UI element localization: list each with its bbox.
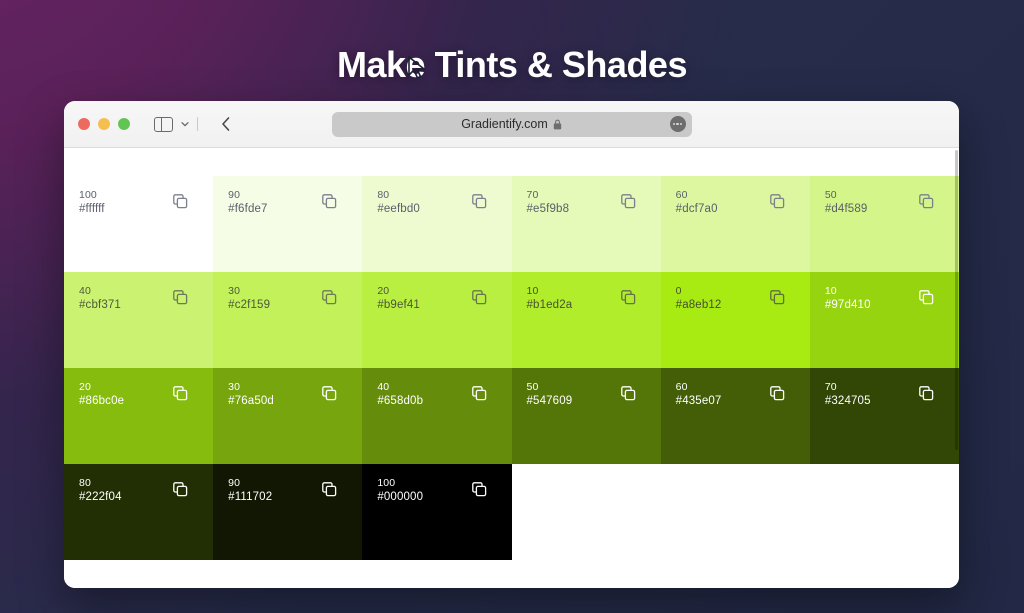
- copy-icon[interactable]: [472, 482, 487, 497]
- lock-icon: [553, 119, 562, 130]
- color-swatch[interactable]: 70#324705: [810, 368, 959, 464]
- copy-icon[interactable]: [173, 194, 188, 209]
- color-swatch[interactable]: 20#b9ef41: [362, 272, 511, 368]
- color-swatch[interactable]: 50#547609: [512, 368, 661, 464]
- color-swatch[interactable]: 70#e5f9b8: [512, 176, 661, 272]
- color-swatch[interactable]: 80#eefbd0: [362, 176, 511, 272]
- color-swatch[interactable]: 30#c2f159: [213, 272, 362, 368]
- color-swatch[interactable]: 60#dcf7a0: [661, 176, 810, 272]
- copy-icon[interactable]: [472, 290, 487, 305]
- copy-icon[interactable]: [173, 482, 188, 497]
- copy-icon[interactable]: [770, 290, 785, 305]
- page-scrollbar[interactable]: [954, 148, 959, 588]
- copy-icon[interactable]: [472, 194, 487, 209]
- color-swatch[interactable]: 90#f6fde7: [213, 176, 362, 272]
- browser-window: Gradientify.com 100#ffffff90#f6fde780#ee…: [64, 101, 959, 588]
- color-swatch-grid: 100#ffffff90#f6fde780#eefbd070#e5f9b860#…: [64, 176, 959, 560]
- color-swatch[interactable]: 10#97d410: [810, 272, 959, 368]
- swatch-empty-cell: [512, 464, 661, 560]
- address-bar-url: Gradientify.com: [461, 117, 548, 131]
- copy-icon[interactable]: [322, 482, 337, 497]
- page-scrollbar-thumb[interactable]: [955, 150, 959, 450]
- copy-icon[interactable]: [322, 290, 337, 305]
- swatch-empty-cell: [661, 464, 810, 560]
- menu-dot: [673, 123, 675, 125]
- window-controls: [78, 118, 130, 130]
- copy-icon[interactable]: [919, 386, 934, 401]
- close-window-button[interactable]: [78, 118, 90, 130]
- address-bar[interactable]: Gradientify.com: [332, 112, 692, 137]
- color-swatch[interactable]: 100#000000: [362, 464, 511, 560]
- browser-toolbar: Gradientify.com: [64, 101, 959, 148]
- page-content: 100#ffffff90#f6fde780#eefbd070#e5f9b860#…: [64, 148, 959, 588]
- copy-icon[interactable]: [322, 386, 337, 401]
- maximize-window-button[interactable]: [118, 118, 130, 130]
- color-swatch[interactable]: 100#ffffff: [64, 176, 213, 272]
- color-swatch[interactable]: 0#a8eb12: [661, 272, 810, 368]
- sidebar-toggle-group: [154, 117, 198, 132]
- menu-dot: [676, 123, 678, 125]
- swatch-empty-cell: [810, 464, 959, 560]
- menu-dot: [680, 123, 682, 125]
- minimize-window-button[interactable]: [98, 118, 110, 130]
- back-button[interactable]: [220, 116, 232, 132]
- color-swatch[interactable]: 20#86bc0e: [64, 368, 213, 464]
- copy-icon[interactable]: [919, 194, 934, 209]
- color-swatch[interactable]: 90#111702: [213, 464, 362, 560]
- copy-icon[interactable]: [173, 386, 188, 401]
- color-swatch[interactable]: 30#76a50d: [213, 368, 362, 464]
- page-title: Make Tints & Shades: [0, 44, 1024, 86]
- copy-icon[interactable]: [621, 194, 636, 209]
- color-swatch[interactable]: 50#d4f589: [810, 176, 959, 272]
- color-swatch[interactable]: 80#222f04: [64, 464, 213, 560]
- copy-icon[interactable]: [770, 194, 785, 209]
- color-swatch[interactable]: 10#b1ed2a: [512, 272, 661, 368]
- copy-icon[interactable]: [173, 290, 188, 305]
- color-swatch[interactable]: 60#435e07: [661, 368, 810, 464]
- page-menu-button[interactable]: [670, 116, 686, 132]
- copy-icon[interactable]: [621, 290, 636, 305]
- chevron-left-icon: [220, 116, 232, 132]
- copy-icon[interactable]: [621, 386, 636, 401]
- chevron-down-icon[interactable]: [180, 119, 190, 129]
- toolbar-divider: [197, 117, 198, 131]
- copy-icon[interactable]: [472, 386, 487, 401]
- color-swatch[interactable]: 40#658d0b: [362, 368, 511, 464]
- sidebar-icon[interactable]: [154, 117, 173, 132]
- color-swatch[interactable]: 40#cbf371: [64, 272, 213, 368]
- copy-icon[interactable]: [919, 290, 934, 305]
- copy-icon[interactable]: [322, 194, 337, 209]
- copy-icon[interactable]: [770, 386, 785, 401]
